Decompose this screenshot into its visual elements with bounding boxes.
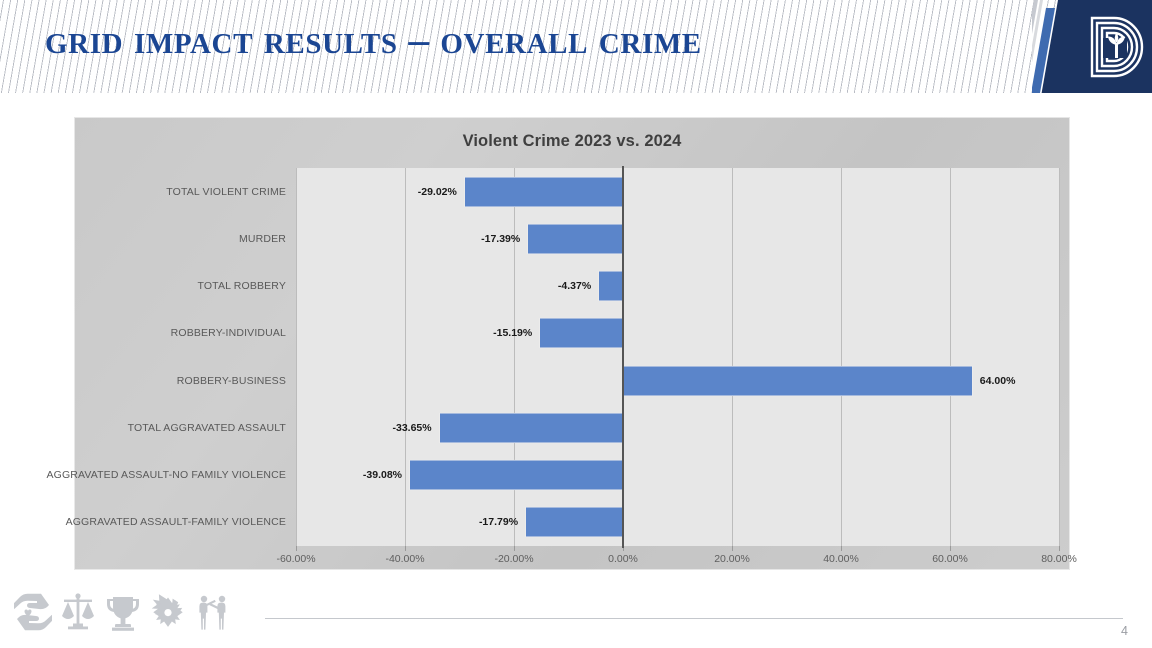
trophy-icon: [104, 590, 142, 634]
scales-balance-icon: [59, 590, 97, 634]
x-axis-tick: [950, 546, 951, 551]
chart-category-label: MURDER: [239, 233, 286, 245]
hands-heart-icon: [14, 590, 52, 634]
x-axis-tick-label: -40.00%: [385, 553, 424, 565]
chart-category-label: TOTAL AGGRAVATED ASSAULT: [128, 422, 286, 434]
chart-bar-row: TOTAL ROBBERY-4.37%: [296, 263, 1059, 310]
chart-x-axis: -60.00%-40.00%-20.00%0.00%20.00%40.00%60…: [296, 546, 1059, 576]
x-axis-tick-label: -20.00%: [494, 553, 533, 565]
logo-block: [1032, 0, 1152, 93]
chart-bar-row: AGGRAVATED ASSAULT-FAMILY VIOLENCE-17.79…: [296, 499, 1059, 546]
x-axis-tick: [732, 546, 733, 551]
x-axis-tick-label: -60.00%: [276, 553, 315, 565]
chart-data-label: -39.08%: [363, 469, 410, 481]
x-axis-tick: [296, 546, 297, 551]
equity-star-icon: [149, 590, 187, 634]
chart-bar[interactable]: [410, 461, 623, 490]
chart-bar-row: MURDER-17.39%: [296, 215, 1059, 262]
chart-bar[interactable]: [465, 177, 623, 206]
chart-bar[interactable]: [540, 319, 623, 348]
chart-bar-row: ROBBERY-BUSINESS64.00%: [296, 357, 1059, 404]
slide-header: Grid Impact Results – Overall Crime: [0, 0, 1152, 93]
chart-data-label: -29.02%: [418, 186, 465, 198]
x-axis-tick: [514, 546, 515, 551]
chart-bar[interactable]: [528, 224, 623, 253]
chart-bar[interactable]: [440, 413, 623, 442]
chart-bar-row: AGGRAVATED ASSAULT-NO FAMILY VIOLENCE-39…: [296, 452, 1059, 499]
chart-plot-area: TOTAL VIOLENT CRIME-29.02%MURDER-17.39%T…: [296, 168, 1059, 546]
city-of-dallas-d-logo: [1084, 12, 1146, 82]
chart-data-label: -4.37%: [558, 280, 599, 292]
chart-category-label: TOTAL ROBBERY: [197, 280, 286, 292]
x-axis-tick-label: 60.00%: [932, 553, 968, 565]
chart-category-label: ROBBERY-BUSINESS: [177, 375, 286, 387]
two-people-icon: [194, 590, 232, 634]
chart-bar[interactable]: [526, 508, 623, 537]
chart-category-label: TOTAL VIOLENT CRIME: [166, 186, 286, 198]
x-axis-tick-label: 20.00%: [714, 553, 750, 565]
chart-category-label: ROBBERY-INDIVIDUAL: [171, 327, 286, 339]
chart-category-label: AGGRAVATED ASSAULT-NO FAMILY VIOLENCE: [46, 469, 286, 481]
chart-bar[interactable]: [599, 272, 623, 301]
page-title: Grid Impact Results – Overall Crime: [45, 13, 702, 65]
chart-bar[interactable]: [623, 366, 972, 395]
chart-data-label: 64.00%: [972, 375, 1016, 387]
footer-divider: [265, 618, 1123, 619]
chart-panel: Violent Crime 2023 vs. 2024 TOTAL VIOLEN…: [74, 117, 1070, 570]
x-axis-tick: [1059, 546, 1060, 551]
chart-category-label: AGGRAVATED ASSAULT-FAMILY VIOLENCE: [66, 516, 286, 528]
chart-data-label: -17.39%: [481, 233, 528, 245]
chart-bar-row: TOTAL AGGRAVATED ASSAULT-33.65%: [296, 404, 1059, 451]
page-number: 4: [1121, 624, 1128, 638]
chart-data-label: -33.65%: [393, 422, 440, 434]
x-axis-tick: [841, 546, 842, 551]
chart-zero-axis-line: [622, 166, 624, 548]
core-values-icons: [14, 590, 232, 634]
chart-gridline: [1059, 168, 1060, 546]
chart-bar-row: TOTAL VIOLENT CRIME-29.02%: [296, 168, 1059, 215]
chart-bar-row: ROBBERY-INDIVIDUAL-15.19%: [296, 310, 1059, 357]
chart-data-label: -17.79%: [479, 516, 526, 528]
chart-title: Violent Crime 2023 vs. 2024: [74, 132, 1070, 151]
x-axis-tick-label: 40.00%: [823, 553, 859, 565]
x-axis-tick: [405, 546, 406, 551]
x-axis-tick-label: 80.00%: [1041, 553, 1077, 565]
x-axis-tick-label: 0.00%: [608, 553, 638, 565]
chart-data-label: -15.19%: [493, 327, 540, 339]
